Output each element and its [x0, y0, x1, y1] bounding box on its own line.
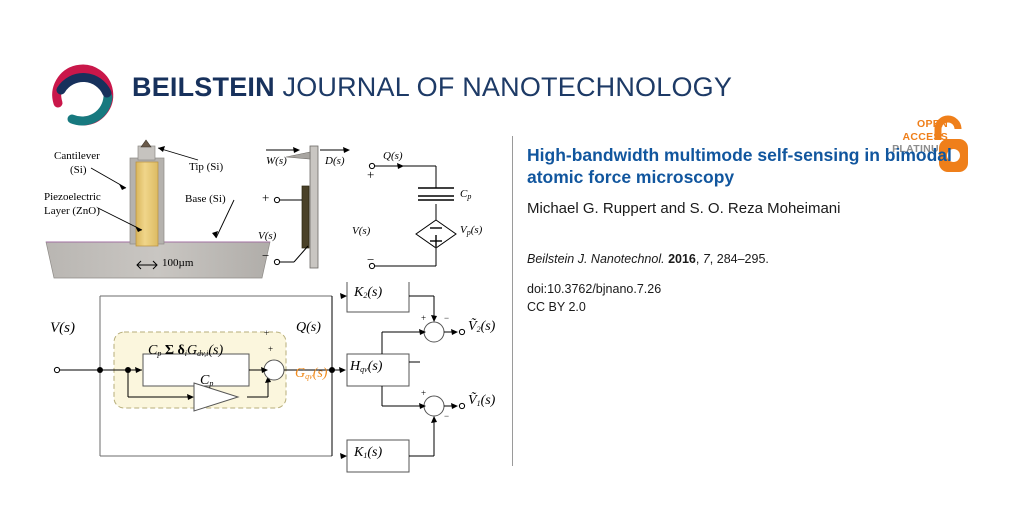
- sign-inner-sum-bottom: +: [268, 344, 273, 354]
- journal-wordmark: BEILSTEIN JOURNAL OF NANOTECHNOLOGY: [132, 72, 732, 103]
- label-D: D(s): [325, 155, 345, 167]
- article-license: CC BY 2.0: [527, 300, 586, 314]
- sign-minus-circuit: −: [367, 252, 374, 268]
- citation-pages: 284–295.: [717, 252, 769, 266]
- label-Q: Q(s): [383, 150, 403, 162]
- block-diagram-figure: [42, 282, 472, 482]
- article-citation: Beilstein J. Nanotechnol. 2016, 7, 284–2…: [527, 252, 769, 266]
- sign-plus-left: +: [262, 190, 269, 206]
- article-doi: doi:10.3762/bjnano.7.26: [527, 282, 661, 296]
- wordmark-light: JOURNAL OF NANOTECHNOLOGY: [275, 72, 732, 102]
- sign-sum-top-left: +: [421, 313, 426, 323]
- page-header: BEILSTEIN JOURNAL OF NANOTECHNOLOGY OPEN…: [0, 0, 1024, 135]
- label-block-K2: K2(s): [354, 285, 382, 301]
- label-block-main: Cp Σ δiGdv,i(s): [148, 343, 223, 359]
- figure-area: Cantilever (Si) Tip (Si) Piezoelectric L…: [0, 130, 512, 480]
- sign-sum-top-right: −: [444, 313, 449, 323]
- label-scale: 100µm: [162, 257, 193, 269]
- wordmark-bold: BEILSTEIN: [132, 72, 275, 102]
- column-divider: [512, 136, 513, 466]
- citation-sep2: ,: [696, 252, 703, 266]
- label-piezo-line1: Piezoelectric: [44, 191, 101, 203]
- label-cantilever-line1: Cantilever: [54, 150, 100, 162]
- sign-inner-sum-top: +: [264, 328, 269, 338]
- label-Q-block: Q(s): [296, 320, 321, 336]
- beilstein-swirl-icon: [46, 57, 120, 131]
- label-Cp: Cp: [460, 188, 471, 201]
- sign-sum-bottom-left: +: [421, 388, 426, 398]
- label-tip: Tip (Si): [189, 161, 223, 173]
- sign-plus-circuit: +: [367, 167, 374, 183]
- article-title: High-bandwidth multimode self-sensing in…: [527, 144, 967, 188]
- label-W: W(s): [266, 155, 287, 167]
- label-block-gain: Cp: [200, 373, 213, 389]
- label-Vp: Vp(s): [460, 224, 482, 237]
- label-block-Hqv: Hqv(s): [350, 359, 382, 375]
- label-input-V: V(s): [50, 320, 75, 337]
- label-cantilever-line2: (Si): [70, 164, 87, 176]
- citation-journal: Beilstein J. Nanotechnol.: [527, 252, 665, 266]
- open-access-badge: OPEN ACCESS PLATINUM: [882, 58, 994, 120]
- article-authors: Michael G. Ruppert and S. O. Reza Moheim…: [527, 200, 977, 217]
- label-base: Base (Si): [185, 193, 226, 205]
- citation-year: 2016: [668, 252, 696, 266]
- sign-minus-left: −: [262, 248, 269, 264]
- label-output-V1: Ṽ1(s): [468, 393, 495, 409]
- sign-sum-bottom-right: −: [444, 411, 449, 421]
- label-block-K1: K1(s): [354, 445, 382, 461]
- label-Gqv: Gqv(s): [295, 366, 327, 382]
- label-V-circuit: V(s): [352, 225, 370, 237]
- label-V-left: V(s): [258, 230, 276, 242]
- label-output-V2: Ṽ2(s): [468, 319, 495, 335]
- citation-volume: 7: [703, 252, 710, 266]
- citation-sep3: ,: [710, 252, 717, 266]
- label-piezo-line2: Layer (ZnO): [44, 205, 100, 217]
